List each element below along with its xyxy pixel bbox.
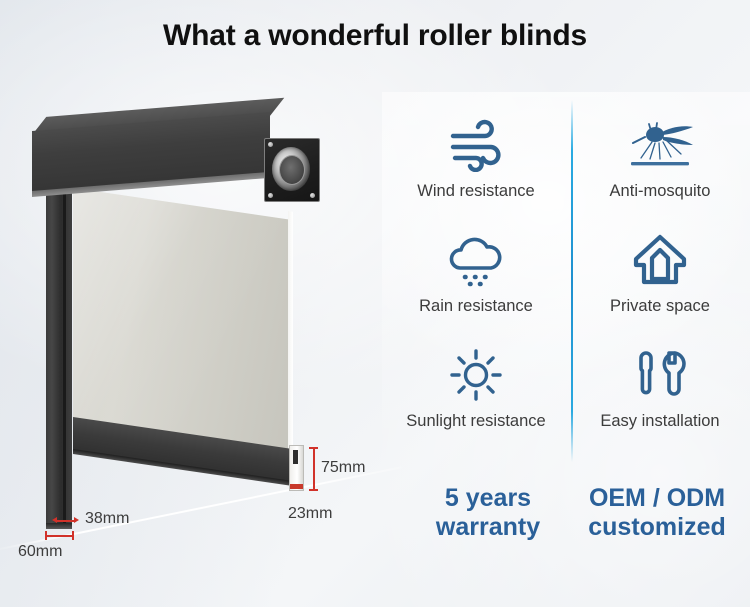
headbox-end-cap	[264, 138, 320, 202]
house-icon	[568, 229, 750, 291]
blind-fabric	[73, 188, 289, 457]
dimension-cap	[72, 531, 74, 540]
wind-icon	[384, 114, 568, 176]
tools-icon	[568, 344, 750, 406]
feature-private-space: Private space	[568, 229, 750, 316]
dimension-line-75mm	[313, 447, 315, 490]
dimension-line-60mm	[45, 535, 73, 537]
guide-rail-groove	[63, 190, 66, 527]
feature-label: Easy installation	[568, 412, 750, 431]
rail-profile-base	[290, 484, 303, 489]
dimension-label-23mm: 23mm	[288, 505, 332, 523]
sun-icon	[384, 344, 568, 406]
product-illustration: 75mm 23mm 38mm 60mm	[0, 95, 390, 607]
end-cap-screw-icon	[310, 193, 315, 198]
roller-tube-core	[279, 155, 305, 185]
promo-warranty-line2: warranty	[404, 513, 572, 542]
end-cap-screw-icon	[268, 193, 273, 198]
mosquito-icon	[568, 114, 750, 176]
feature-label: Wind resistance	[384, 182, 568, 201]
product-banner: What a wonderful roller blinds	[0, 0, 750, 607]
dimension-label-60mm: 60mm	[18, 543, 62, 561]
dimension-label-75mm: 75mm	[321, 459, 365, 477]
dimension-cap	[309, 489, 318, 491]
guide-rail-foot	[46, 523, 72, 529]
roller-tube-icon	[272, 147, 310, 191]
feature-easy-installation: Easy installation	[568, 344, 750, 431]
dimension-line-38mm	[56, 520, 76, 522]
bottom-rail-end-profile	[289, 445, 304, 491]
feature-rain-resistance: Rain resistance	[384, 229, 568, 316]
fabric-sheen	[73, 188, 289, 457]
page-title: What a wonderful roller blinds	[0, 19, 750, 53]
feature-label: Sunlight resistance	[384, 412, 568, 431]
promo-oem-odm: OEM / ODM customized	[564, 484, 750, 542]
promo-warranty-line1: 5 years	[404, 484, 572, 513]
feature-sunlight-resistance: Sunlight resistance	[384, 344, 568, 431]
feature-label: Private space	[568, 297, 750, 316]
dimension-cap	[45, 531, 47, 540]
dimension-cap	[309, 447, 318, 449]
features-panel: Wind resistance	[382, 92, 750, 607]
fabric-right-edge	[288, 211, 293, 450]
feature-anti-mosquito: Anti-mosquito	[568, 114, 750, 201]
dimension-label-38mm: 38mm	[85, 510, 129, 528]
side-guide-rail	[46, 190, 72, 527]
promo-oem-line1: OEM / ODM	[564, 484, 750, 513]
promo-oem-line2: customized	[564, 513, 750, 542]
headbox-cassette	[32, 118, 294, 195]
end-cap-screw-icon	[268, 142, 273, 147]
feature-wind-resistance: Wind resistance	[384, 114, 568, 201]
rail-profile-slot	[293, 450, 298, 464]
feature-label: Anti-mosquito	[568, 182, 750, 201]
dimension-arrow	[52, 517, 57, 523]
feature-label: Rain resistance	[384, 297, 568, 316]
rain-cloud-icon	[384, 229, 568, 291]
promo-warranty: 5 years warranty	[404, 484, 572, 542]
dimension-arrow	[74, 517, 79, 523]
